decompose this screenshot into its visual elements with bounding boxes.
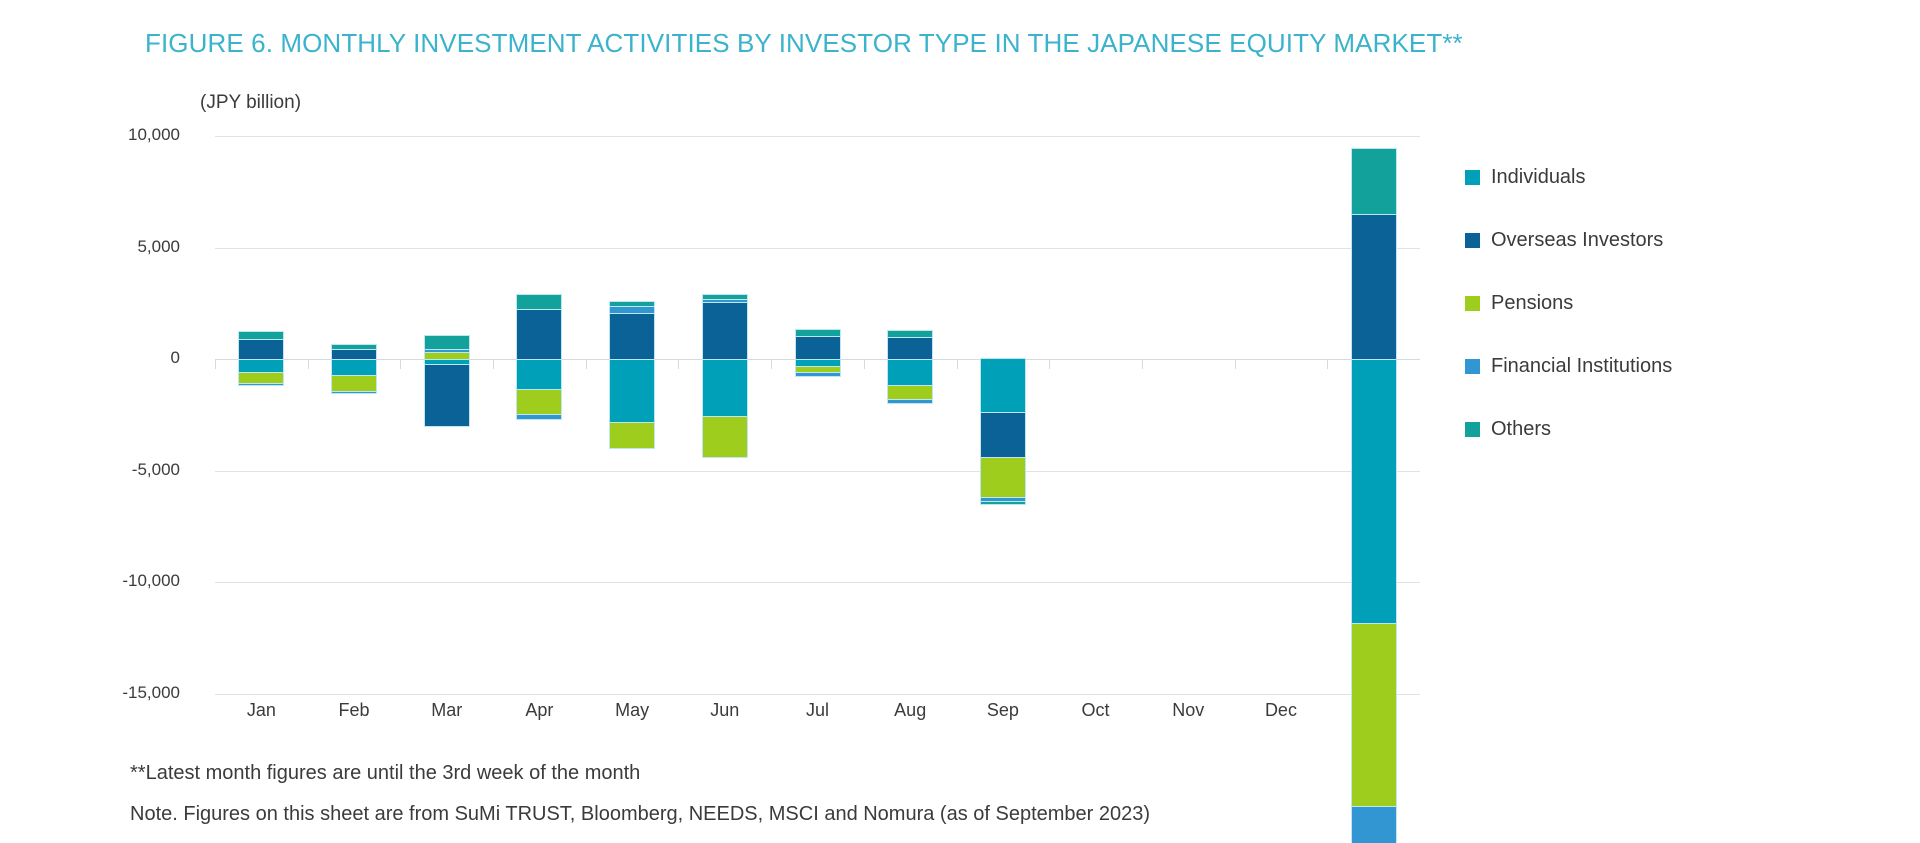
- y-axis-tick-label: -10,000: [60, 571, 180, 591]
- bar-segment[interactable]: [1352, 807, 1396, 843]
- bar-segment[interactable]: [703, 417, 747, 457]
- y-axis-tick-label: 5,000: [60, 237, 180, 257]
- bar-segment[interactable]: [888, 337, 932, 359]
- axis-tick-mark: [1327, 360, 1328, 369]
- bar-segment[interactable]: [888, 331, 932, 337]
- axis-tick-mark: [864, 360, 865, 369]
- bar-segment[interactable]: [981, 458, 1025, 498]
- legend-swatch-icon: [1465, 359, 1480, 374]
- legend-item[interactable]: Overseas Investors: [1465, 229, 1663, 252]
- axis-tick-mark: [215, 360, 216, 369]
- bar-segment[interactable]: [517, 390, 561, 415]
- gridline: [215, 694, 1420, 695]
- bar-segment[interactable]: [239, 373, 283, 384]
- gridline: [215, 136, 1420, 137]
- bar-segment[interactable]: [981, 359, 1025, 413]
- bar-segment[interactable]: [981, 502, 1025, 504]
- footnote-source-note: Note. Figures on this sheet are from SuM…: [130, 803, 1150, 826]
- bar-segment[interactable]: [981, 413, 1025, 459]
- bar-segment[interactable]: [332, 376, 376, 392]
- bar-segment[interactable]: [239, 359, 283, 373]
- bar-segment[interactable]: [239, 384, 283, 385]
- legend-label: Individuals: [1491, 166, 1586, 189]
- axis-tick-mark: [1049, 360, 1050, 369]
- axis-tick-mark: [493, 360, 494, 369]
- bar-segment[interactable]: [796, 373, 840, 376]
- legend-label: Pensions: [1491, 292, 1573, 315]
- legend-label: Others: [1491, 418, 1551, 441]
- axis-tick-mark: [308, 360, 309, 369]
- bar-segment[interactable]: [239, 332, 283, 339]
- bar-segment[interactable]: [332, 345, 376, 349]
- figure-container: FIGURE 6. MONTHLY INVESTMENT ACTIVITIES …: [0, 0, 1920, 831]
- legend-item[interactable]: Others: [1465, 418, 1551, 441]
- bar-segment[interactable]: [610, 313, 654, 359]
- axis-tick-mark: [957, 360, 958, 369]
- bar-segment[interactable]: [517, 309, 561, 359]
- axis-tick-mark: [771, 360, 772, 369]
- bar-segment[interactable]: [425, 336, 469, 348]
- bar-segment[interactable]: [425, 352, 469, 359]
- bar-segment[interactable]: [703, 295, 747, 299]
- y-axis-tick-label: -15,000: [60, 683, 180, 703]
- bar-segment[interactable]: [610, 302, 654, 306]
- bar-segment[interactable]: [796, 330, 840, 336]
- bar-segment[interactable]: [517, 295, 561, 309]
- axis-tick-mark: [586, 360, 587, 369]
- bar-segment[interactable]: [1352, 214, 1396, 359]
- bar-segment[interactable]: [610, 306, 654, 312]
- gridline: [215, 471, 1420, 472]
- bar-segment[interactable]: [703, 359, 747, 417]
- bar-segment[interactable]: [610, 359, 654, 423]
- bar-segment[interactable]: [332, 349, 376, 359]
- bar-segment[interactable]: [888, 400, 932, 403]
- legend-item[interactable]: Individuals: [1465, 166, 1586, 189]
- legend-swatch-icon: [1465, 233, 1480, 248]
- legend-swatch-icon: [1465, 170, 1480, 185]
- bar-segment[interactable]: [610, 423, 654, 449]
- axis-tick-mark: [678, 360, 679, 369]
- bar-segment[interactable]: [1352, 624, 1396, 807]
- bar-segment[interactable]: [703, 299, 747, 302]
- y-axis-tick-label: 10,000: [60, 125, 180, 145]
- bar-segment[interactable]: [425, 349, 469, 352]
- bar-segment[interactable]: [703, 302, 747, 359]
- bar-segment[interactable]: [888, 386, 932, 400]
- y-axis-tick-label: -5,000: [60, 460, 180, 480]
- bar-segment[interactable]: [332, 392, 376, 393]
- bar-segment[interactable]: [332, 359, 376, 376]
- legend-item[interactable]: Financial Institutions: [1465, 355, 1672, 378]
- legend-swatch-icon: [1465, 422, 1480, 437]
- plot-area: 10,0005,0000-5,000-10,000-15,000JanFebMa…: [0, 0, 1920, 831]
- legend-label: Financial Institutions: [1491, 355, 1672, 378]
- legend-item[interactable]: Pensions: [1465, 292, 1573, 315]
- y-axis-tick-label: 0: [60, 348, 180, 368]
- gridline: [215, 248, 1420, 249]
- axis-tick-mark: [1235, 360, 1236, 369]
- legend-label: Overseas Investors: [1491, 229, 1663, 252]
- bar-segment[interactable]: [796, 359, 840, 367]
- bar-segment[interactable]: [1352, 359, 1396, 624]
- bar-segment[interactable]: [517, 415, 561, 419]
- legend-swatch-icon: [1465, 296, 1480, 311]
- bar-segment[interactable]: [796, 336, 840, 359]
- bar-segment[interactable]: [425, 365, 469, 426]
- footnote-latest-month: **Latest month figures are until the 3rd…: [130, 762, 640, 785]
- bar-segment[interactable]: [1352, 149, 1396, 215]
- bar-segment[interactable]: [888, 359, 932, 386]
- bar-segment[interactable]: [517, 359, 561, 390]
- axis-tick-mark: [1142, 360, 1143, 369]
- bar-segment[interactable]: [239, 339, 283, 359]
- gridline: [215, 582, 1420, 583]
- axis-tick-mark: [400, 360, 401, 369]
